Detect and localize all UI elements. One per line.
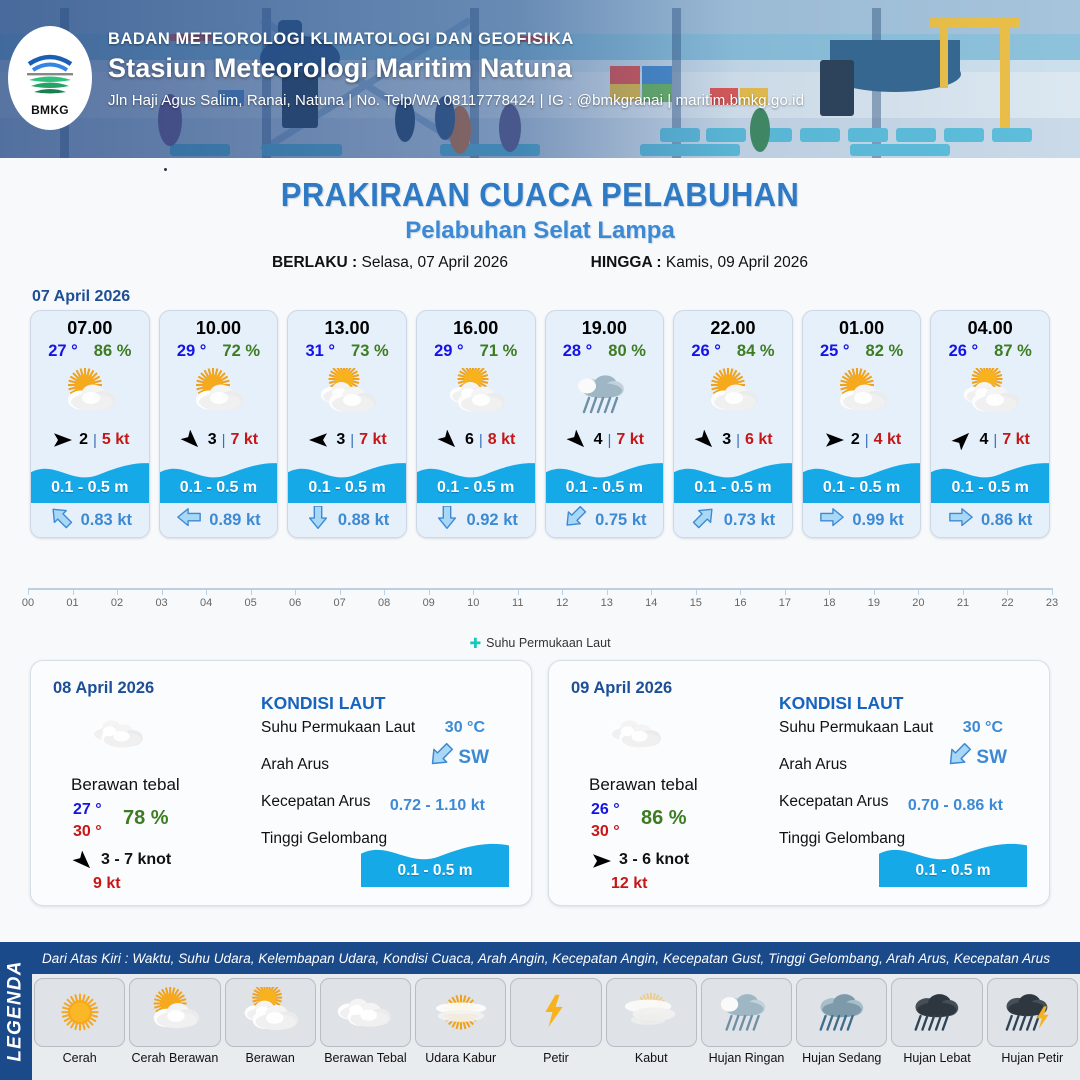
card-wind-row: 4 | 7 kt: [546, 425, 664, 455]
wind-speed: 4 kt: [874, 431, 902, 449]
card-humidity: 86 %: [94, 342, 132, 361]
card-time: 19.00: [546, 311, 664, 339]
weather-petir-icon: [510, 978, 601, 1047]
panel-condition: Berawan tebal: [589, 775, 698, 795]
station-name: Stasiun Meteorologi Maritim Natuna: [108, 53, 804, 84]
axis-tick: [518, 588, 519, 595]
wind-direction-arrow-icon: [179, 430, 203, 450]
chart-tick-labels: 0001020304050607080910111213141516171819…: [28, 597, 1052, 617]
axis-tick-label: 19: [868, 597, 880, 609]
sea-condition-title: KONDISI LAUT: [261, 693, 385, 714]
axis-tick: [1007, 588, 1008, 595]
axis-tick: [28, 588, 29, 595]
current-direction-arrow-icon: [948, 506, 974, 533]
axis-tick-label: 07: [334, 597, 346, 609]
weather-berawan-tebal-icon: [607, 709, 665, 763]
card-current-row: 0.99 kt: [803, 503, 921, 537]
wind-direction-arrow-icon: [50, 430, 74, 450]
legend-item: Berawan Tebal: [320, 978, 411, 1066]
wind-scale: 3: [208, 431, 217, 449]
validity-row: BERLAKU : Selasa, 07 April 2026 HINGGA :…: [0, 254, 1080, 272]
current-speed: 0.92 kt: [467, 511, 518, 530]
axis-tick-label: 15: [690, 597, 702, 609]
card-wind-row: 2 | 5 kt: [31, 425, 149, 455]
weather-hujan-petir-icon: [987, 978, 1078, 1047]
forecast-card: 07.00 27 ° 86 % 2 | 5 kt 0.1 - 0.5 m: [30, 310, 150, 538]
title-block: PRAKIRAAN CUACA PELABUHAN Pelabuhan Sela…: [0, 176, 1080, 272]
card-temp-humidity: 27 ° 86 %: [31, 339, 149, 361]
chart-legend-label: Suhu Permukaan Laut: [486, 636, 610, 650]
panel-wind-range: 3 - 6 knot: [619, 851, 689, 869]
card-temp-humidity: 26 ° 84 %: [674, 339, 792, 361]
axis-tick: [918, 588, 919, 595]
forecast-card: 19.00 28 ° 80 % 4 | 7 kt 0.1 - 0.5 m: [545, 310, 665, 538]
axis-tick: [162, 588, 163, 595]
card-current-row: 0.73 kt: [674, 503, 792, 537]
wind-separator: |: [350, 432, 354, 449]
current-direction-arrow-icon: [819, 506, 845, 533]
legend-item-label: Berawan Tebal: [324, 1052, 406, 1066]
current-direction-label: SW: [458, 747, 489, 769]
weather-berawan-icon: [225, 978, 316, 1047]
card-wave: 0.1 - 0.5 m: [417, 455, 535, 503]
card-time: 07.00: [31, 311, 149, 339]
weather-berawan-icon: [417, 363, 535, 425]
day1-date: 07 April 2026: [32, 288, 1080, 306]
legend-section: LEGENDA Dari Atas Kiri : Waktu, Suhu Uda…: [0, 942, 1080, 1080]
panel-humidity: 86 %: [641, 807, 687, 830]
card-current-row: 0.89 kt: [160, 503, 278, 537]
card-humidity: 82 %: [866, 342, 904, 361]
current-speed: 0.88 kt: [338, 511, 389, 530]
bmkg-logo: BMKG: [8, 26, 92, 130]
wind-separator: |: [865, 432, 869, 449]
axis-tick: [874, 588, 875, 595]
card-temperature: 27 °: [48, 342, 78, 361]
legend-item-label: Berawan: [245, 1052, 294, 1066]
axis-tick-label: 03: [155, 597, 167, 609]
current-speed: 0.75 kt: [595, 511, 646, 530]
axis-tick-label: 14: [645, 597, 657, 609]
legend-item: Cerah: [34, 978, 125, 1066]
weather-cerah-berawan-icon: [803, 363, 921, 425]
card-wave: 0.1 - 0.5 m: [288, 455, 406, 503]
sea-condition-title: KONDISI LAUT: [779, 693, 903, 714]
current-direction-arrow-icon: [48, 506, 74, 533]
axis-tick: [651, 588, 652, 595]
axis-tick: [117, 588, 118, 595]
wave-height: 0.1 - 0.5 m: [674, 479, 792, 497]
axis-tick: [607, 588, 608, 595]
card-wind-row: 6 | 8 kt: [417, 425, 535, 455]
legend-item-label: Udara Kabur: [425, 1052, 496, 1066]
wind-separator: |: [736, 432, 740, 449]
daily-summary-panels: 08 April 2026 Berawan tebal 27 ° 30 ° 78…: [0, 650, 1080, 906]
axis-tick-label: 02: [111, 597, 123, 609]
card-temp-humidity: 31 ° 73 %: [288, 339, 406, 361]
legend-item-label: Petir: [543, 1052, 569, 1066]
card-current-row: 0.83 kt: [31, 503, 149, 537]
panel-temp-min: 26 °: [591, 801, 620, 819]
wind-direction-arrow-icon: [950, 430, 974, 450]
axis-tick-label: 09: [423, 597, 435, 609]
current-direction-arrow-icon: [691, 506, 717, 533]
current-direction-arrow-icon: [305, 506, 331, 533]
forecast-card: 01.00 25 ° 82 % 2 | 4 kt 0.1 - 0.5 m: [802, 310, 922, 538]
axis-tick-label: 18: [823, 597, 835, 609]
legend-item-label: Kabut: [635, 1052, 668, 1066]
legend-item: Kabut: [606, 978, 697, 1066]
daily-panel: 08 April 2026 Berawan tebal 27 ° 30 ° 78…: [30, 660, 532, 906]
weather-cerah-berawan-icon: [129, 978, 220, 1047]
axis-tick-label: 16: [734, 597, 746, 609]
current-direction-arrow-icon: [176, 506, 202, 533]
current-direction-arrow-icon: [427, 743, 455, 772]
axis-tick: [206, 588, 207, 595]
wind-speed: 5 kt: [102, 431, 130, 449]
weather-hujan-ringan-icon: [546, 363, 664, 425]
card-wave: 0.1 - 0.5 m: [803, 455, 921, 503]
card-wave: 0.1 - 0.5 m: [674, 455, 792, 503]
wind-separator: |: [993, 432, 997, 449]
panel-wave: 0.1 - 0.5 m: [879, 835, 1027, 887]
legend-item-label: Hujan Ringan: [709, 1052, 785, 1066]
current-direction-row: SW: [427, 743, 489, 772]
legend-item-label: Cerah: [63, 1052, 97, 1066]
panel-wave: 0.1 - 0.5 m: [361, 835, 509, 887]
card-temperature: 26 °: [949, 342, 979, 361]
legend-item-label: Hujan Lebat: [903, 1052, 970, 1066]
legend-item: Udara Kabur: [415, 978, 506, 1066]
card-humidity: 71 %: [480, 342, 518, 361]
card-temperature: 31 °: [305, 342, 335, 361]
weather-berawan-tebal-icon: [89, 709, 147, 763]
card-wind-row: 3 | 6 kt: [674, 425, 792, 455]
wave-height: 0.1 - 0.5 m: [160, 479, 278, 497]
card-humidity: 80 %: [608, 342, 646, 361]
card-humidity: 87 %: [994, 342, 1032, 361]
forecast-card: 16.00 29 ° 71 % 6 | 8 kt: [416, 310, 536, 538]
axis-tick-label: 17: [779, 597, 791, 609]
weather-berawan-tebal-icon: [320, 978, 411, 1047]
current-speed: 0.99 kt: [852, 511, 903, 530]
card-current-row: 0.88 kt: [288, 503, 406, 537]
legend-item: Hujan Sedang: [796, 978, 887, 1066]
wind-speed: 7 kt: [1002, 431, 1030, 449]
panel-temp-max: 30 °: [591, 823, 620, 841]
wind-scale: 6: [465, 431, 474, 449]
axis-tick-label: 11: [512, 597, 523, 609]
panel-gust: 9 kt: [93, 875, 121, 893]
current-direction-arrow-icon: [945, 743, 973, 772]
card-temp-humidity: 29 ° 71 %: [417, 339, 535, 361]
axis-tick-label: 23: [1046, 597, 1058, 609]
axis-tick-label: 06: [289, 597, 301, 609]
berlaku-value: Selasa, 07 April 2026: [362, 254, 509, 271]
axis-tick: [251, 588, 252, 595]
current-speed: 0.89 kt: [209, 511, 260, 530]
card-humidity: 72 %: [222, 342, 260, 361]
wind-direction-arrow-icon: [822, 430, 846, 450]
axis-tick: [562, 588, 563, 595]
panel-date: 08 April 2026: [53, 679, 154, 698]
card-temperature: 25 °: [820, 342, 850, 361]
axis-tick-label: 08: [378, 597, 390, 609]
panel-temp-min: 27 °: [73, 801, 102, 819]
current-direction-arrow-icon: [562, 506, 588, 533]
legend-side-label: LEGENDA: [5, 960, 27, 1061]
hingga-value: Kamis, 09 April 2026: [666, 254, 808, 271]
card-temperature: 29 °: [177, 342, 207, 361]
current-direction-label: SW: [976, 747, 1007, 769]
legend-item: Berawan: [225, 978, 316, 1066]
axis-tick-label: 20: [912, 597, 924, 609]
panel-wind-row: 3 - 6 knot: [589, 851, 689, 869]
axis-tick-label: 01: [66, 597, 78, 609]
card-wave: 0.1 - 0.5 m: [160, 455, 278, 503]
wind-direction-arrow-icon: [693, 430, 717, 450]
card-temp-humidity: 29 ° 72 %: [160, 339, 278, 361]
wind-separator: |: [222, 432, 226, 449]
axis-tick-label: 12: [556, 597, 568, 609]
axis-tick: [384, 588, 385, 595]
panel-wave-height: 0.1 - 0.5 m: [879, 862, 1027, 880]
panel-humidity: 78 %: [123, 807, 169, 830]
axis-tick: [963, 588, 964, 595]
axis-tick: [73, 588, 74, 595]
wind-direction-arrow-icon: [436, 430, 460, 450]
axis-tick-label: 10: [467, 597, 479, 609]
card-wave: 0.1 - 0.5 m: [546, 455, 664, 503]
wave-height: 0.1 - 0.5 m: [417, 479, 535, 497]
card-temp-humidity: 28 ° 80 %: [546, 339, 664, 361]
card-time: 01.00: [803, 311, 921, 339]
legend-note-bar: Dari Atas Kiri : Waktu, Suhu Udara, Kele…: [32, 942, 1080, 974]
wind-separator: |: [479, 432, 483, 449]
stray-dot: [164, 168, 167, 171]
card-wave: 0.1 - 0.5 m: [931, 455, 1049, 503]
hourly-forecast-cards: 07.00 27 ° 86 % 2 | 5 kt 0.1 - 0.5 m: [0, 310, 1080, 538]
legend-item: Hujan Petir: [987, 978, 1078, 1066]
current-speed-range: 0.72 - 1.10 kt: [390, 797, 485, 815]
card-temp-humidity: 25 ° 82 %: [803, 339, 921, 361]
wave-height: 0.1 - 0.5 m: [803, 479, 921, 497]
sst-marker-icon: ✚: [469, 636, 481, 650]
legend-item-label: Cerah Berawan: [131, 1052, 218, 1066]
weather-cerah-berawan-icon: [674, 363, 792, 425]
wind-scale: 3: [336, 431, 345, 449]
card-temp-humidity: 26 ° 87 %: [931, 339, 1049, 361]
card-humidity: 73 %: [351, 342, 389, 361]
sst-chart: 0001020304050607080910111213141516171819…: [28, 578, 1052, 630]
axis-tick: [1052, 588, 1053, 595]
panel-wind-row: 3 - 7 knot: [71, 851, 171, 869]
card-wind-row: 4 | 7 kt: [931, 425, 1049, 455]
legend-item-label: Hujan Petir: [1001, 1052, 1063, 1066]
wind-speed: 7 kt: [231, 431, 259, 449]
header-text-block: BADAN METEOROLOGI KLIMATOLOGI DAN GEOFIS…: [108, 30, 804, 109]
forecast-card: 04.00 26 ° 87 % 4 | 7 kt: [930, 310, 1050, 538]
card-current-row: 0.75 kt: [546, 503, 664, 537]
current-direction-arrow-icon: [434, 506, 460, 533]
card-temperature: 29 °: [434, 342, 464, 361]
page-header: BMKG BADAN METEOROLOGI KLIMATOLOGI DAN G…: [0, 0, 1080, 158]
legend-items: Cerah Cerah Berawan: [34, 978, 1078, 1066]
axis-tick-label: 04: [200, 597, 212, 609]
axis-tick-label: 13: [601, 597, 613, 609]
wind-scale: 2: [851, 431, 860, 449]
wind-speed: 7 kt: [616, 431, 644, 449]
wind-speed: 8 kt: [488, 431, 516, 449]
axis-tick: [829, 588, 830, 595]
axis-tick: [429, 588, 430, 595]
card-time: 16.00: [417, 311, 535, 339]
berlaku-label: BERLAKU :: [272, 254, 357, 271]
wave-height: 0.1 - 0.5 m: [546, 479, 664, 497]
hingga-label: HINGGA :: [591, 254, 662, 271]
panel-temp-max: 30 °: [73, 823, 102, 841]
daily-panel: 09 April 2026 Berawan tebal 26 ° 30 ° 86…: [548, 660, 1050, 906]
wind-scale: 3: [722, 431, 731, 449]
wind-separator: |: [93, 432, 97, 449]
page-title: PRAKIRAAN CUACA PELABUHAN: [32, 176, 1047, 214]
wave-height: 0.1 - 0.5 m: [31, 479, 149, 497]
weather-berawan-icon: [288, 363, 406, 425]
agency-name: BADAN METEOROLOGI KLIMATOLOGI DAN GEOFIS…: [108, 30, 804, 49]
card-current-row: 0.92 kt: [417, 503, 535, 537]
weather-cerah-icon: [34, 978, 125, 1047]
axis-tick-label: 21: [957, 597, 969, 609]
wind-speed: 7 kt: [359, 431, 387, 449]
card-humidity: 84 %: [737, 342, 775, 361]
card-wave: 0.1 - 0.5 m: [31, 455, 149, 503]
weather-udara-kabur-icon: [415, 978, 506, 1047]
wind-scale: 2: [79, 431, 88, 449]
wind-scale: 4: [979, 431, 988, 449]
wind-separator: |: [608, 432, 612, 449]
weather-hujan-lebat-icon: [891, 978, 982, 1047]
wave-height: 0.1 - 0.5 m: [931, 479, 1049, 497]
legend-item: Hujan Ringan: [701, 978, 792, 1066]
card-time: 22.00: [674, 311, 792, 339]
weather-cerah-berawan-icon: [160, 363, 278, 425]
contact-info: Jln Haji Agus Salim, Ranai, Natuna | No.…: [108, 92, 804, 109]
axis-tick-label: 22: [1001, 597, 1013, 609]
page-subtitle: Pelabuhan Selat Lampa: [0, 217, 1080, 245]
axis-tick: [340, 588, 341, 595]
current-speed: 0.83 kt: [81, 511, 132, 530]
wave-height: 0.1 - 0.5 m: [288, 479, 406, 497]
panel-condition: Berawan tebal: [71, 775, 180, 795]
panel-date: 09 April 2026: [571, 679, 672, 698]
sea-surface-temp: 30 °C: [963, 719, 1003, 737]
card-time: 04.00: [931, 311, 1049, 339]
logo-label: BMKG: [31, 103, 69, 117]
chart-ticks: [28, 588, 1052, 595]
legend-item-label: Hujan Sedang: [802, 1052, 881, 1066]
bmkg-emblem-icon: [19, 40, 81, 102]
sea-surface-temp: 30 °C: [445, 719, 485, 737]
weather-hujan-ringan-icon: [701, 978, 792, 1047]
current-speed: 0.73 kt: [724, 511, 775, 530]
wind-direction-arrow-icon: [565, 430, 589, 450]
legend-item: Hujan Lebat: [891, 978, 982, 1066]
axis-tick: [473, 588, 474, 595]
wind-direction-arrow-icon: [307, 430, 331, 450]
weather-berawan-icon: [931, 363, 1049, 425]
card-time: 10.00: [160, 311, 278, 339]
weather-cerah-berawan-icon: [31, 363, 149, 425]
forecast-card: 13.00 31 ° 73 % 3 | 7 kt: [287, 310, 407, 538]
axis-tick-label: 00: [22, 597, 34, 609]
weather-hujan-sedang-icon: [796, 978, 887, 1047]
weather-kabut-icon: [606, 978, 697, 1047]
card-current-row: 0.86 kt: [931, 503, 1049, 537]
wind-scale: 4: [594, 431, 603, 449]
forecast-card: 22.00 26 ° 84 % 3 | 6 kt 0.1 - 0.5 m: [673, 310, 793, 538]
forecast-card: 10.00 29 ° 72 % 3 | 7 kt 0.1 - 0.5 m: [159, 310, 279, 538]
legend-item: Cerah Berawan: [129, 978, 220, 1066]
legend-note: Dari Atas Kiri : Waktu, Suhu Udara, Kele…: [42, 951, 1050, 966]
card-wind-row: 2 | 4 kt: [803, 425, 921, 455]
card-temperature: 26 °: [691, 342, 721, 361]
panel-gust: 12 kt: [611, 875, 647, 893]
card-wind-row: 3 | 7 kt: [160, 425, 278, 455]
panel-wave-height: 0.1 - 0.5 m: [361, 862, 509, 880]
panel-wind-range: 3 - 7 knot: [101, 851, 171, 869]
current-speed-range: 0.70 - 0.86 kt: [908, 797, 1003, 815]
axis-tick: [740, 588, 741, 595]
card-temperature: 28 °: [563, 342, 593, 361]
card-time: 13.00: [288, 311, 406, 339]
wind-direction-arrow-icon: [71, 851, 95, 869]
legend-side-banner: LEGENDA: [0, 942, 32, 1080]
card-wind-row: 3 | 7 kt: [288, 425, 406, 455]
legend-item: Petir: [510, 978, 601, 1066]
current-direction-row: SW: [945, 743, 1007, 772]
axis-tick: [295, 588, 296, 595]
chart-legend: ✚ Suhu Permukaan Laut: [0, 636, 1080, 650]
axis-tick: [785, 588, 786, 595]
axis-tick: [696, 588, 697, 595]
wind-speed: 6 kt: [745, 431, 773, 449]
axis-tick-label: 05: [244, 597, 256, 609]
current-speed: 0.86 kt: [981, 511, 1032, 530]
wind-direction-arrow-icon: [589, 851, 613, 869]
